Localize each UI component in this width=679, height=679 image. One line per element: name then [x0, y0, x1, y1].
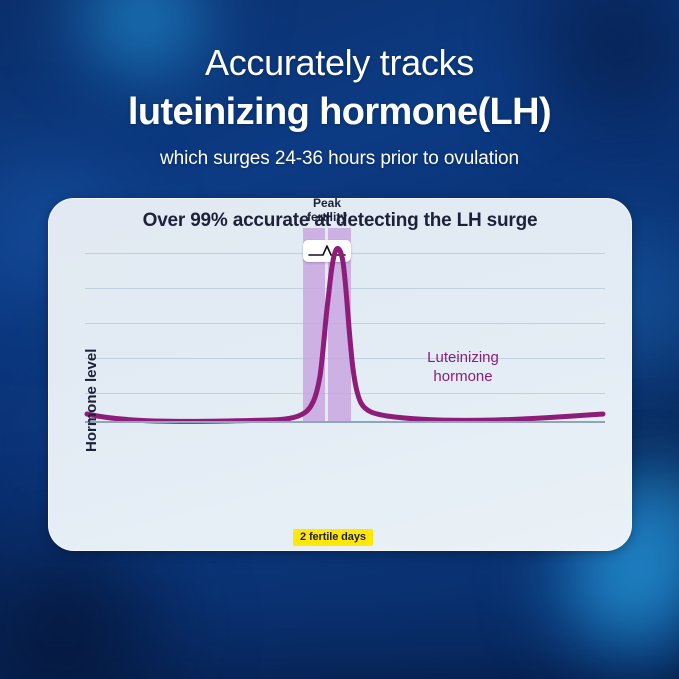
headline-line-1: Accurately tracks — [0, 40, 679, 86]
headline-subtitle: which surges 24-36 hours prior to ovulat… — [0, 146, 679, 172]
headline-line-2: luteinizing hormone(LH) — [0, 88, 679, 136]
x-axis-line — [85, 421, 605, 423]
series-label-luteinizing-hormone: Luteinizing hormone — [398, 348, 528, 386]
promo-graphic: Accurately tracks luteinizing hormone(LH… — [0, 0, 679, 679]
peak-fertility-caption: Peak fertility — [260, 198, 394, 224]
peak-fertility-caption-line-1: Peak — [260, 198, 394, 210]
chart-card: Over 99% accurate at detecting the LH su… — [48, 198, 632, 551]
series-label-line-1: Luteinizing — [398, 348, 528, 367]
series-label-line-2: hormone — [398, 367, 528, 386]
peak-fertility-caption-line-2: fertility — [260, 210, 394, 224]
headline-block: Accurately tracks luteinizing hormone(LH… — [0, 40, 679, 172]
fertile-days-badge: 2 fertile days — [293, 529, 373, 546]
chart-plot-area: Peak fertility Luteinizing hormone 2 — [85, 228, 605, 523]
y-axis-title: Hormone level — [83, 349, 100, 452]
